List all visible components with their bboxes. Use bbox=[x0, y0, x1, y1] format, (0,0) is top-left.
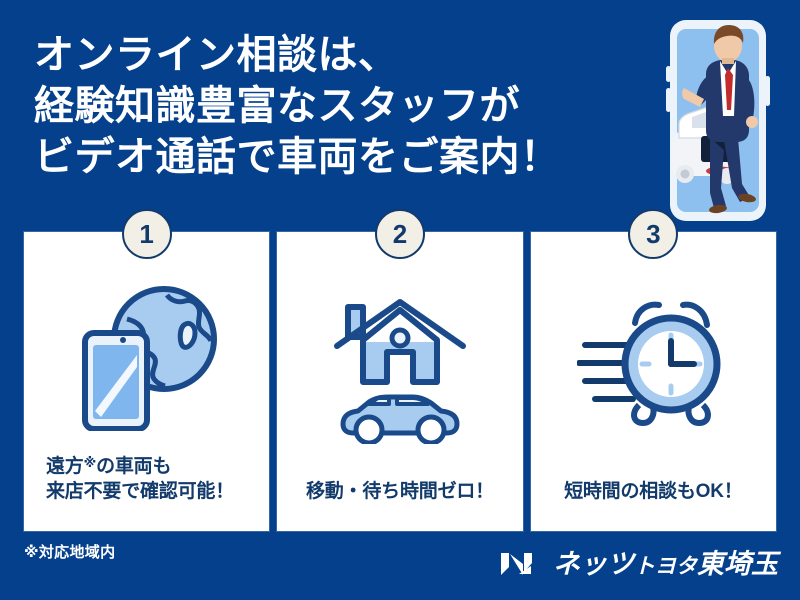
reference-mark: ※ bbox=[84, 455, 96, 470]
phone-video-call-illustration bbox=[648, 18, 788, 223]
benefit-card-1-caption: 遠方※の車両も来店不要で確認可能！ bbox=[24, 454, 269, 531]
card-number-badge: 1 bbox=[122, 209, 172, 259]
benefit-card-3: 3 bbox=[531, 232, 776, 531]
caption-line-2: 来店不要で確認可能！ bbox=[46, 481, 234, 502]
caption-text-part: 遠方 bbox=[46, 456, 84, 477]
alarm-clock-speed-icon bbox=[531, 232, 776, 479]
page-title: オンライン相談は、 経験知識豊富なスタッフが ビデオ通話で車両をご案内！ bbox=[34, 30, 634, 184]
globe-smartphone-icon bbox=[24, 232, 269, 454]
benefit-card-2-caption: 移動・待ち時間ゼロ！ bbox=[298, 479, 502, 531]
brand-name-netz: ネッツ bbox=[553, 549, 634, 579]
footnote: ※対応地域内 bbox=[24, 541, 115, 562]
benefit-card-1: 1 遠方※の車両も来店不要で確認可能！ bbox=[24, 232, 269, 531]
brand-name-region: 東埼玉 bbox=[697, 549, 778, 579]
house-car-icon bbox=[277, 232, 522, 479]
caption-text-part: の車両も bbox=[96, 456, 171, 477]
netz-n-mark-icon bbox=[499, 551, 543, 577]
brand-logo: ネッツトヨタ東埼玉 bbox=[499, 545, 778, 583]
benefit-card-2: 2 bbox=[277, 232, 522, 531]
brand-logo-text: ネッツトヨタ東埼玉 bbox=[553, 551, 778, 578]
card-number-badge: 2 bbox=[375, 209, 425, 259]
benefit-card-list: 1 遠方※の車両も来店不要で確認可能！ 2 bbox=[24, 232, 776, 531]
promo-banner: オンライン相談は、 経験知識豊富なスタッフが ビデオ通話で車両をご案内！ bbox=[0, 0, 800, 600]
brand-name-toyota: トヨタ bbox=[634, 555, 697, 578]
card-number-badge: 3 bbox=[628, 209, 678, 259]
benefit-card-3-caption: 短時間の相談もOK！ bbox=[556, 479, 751, 531]
